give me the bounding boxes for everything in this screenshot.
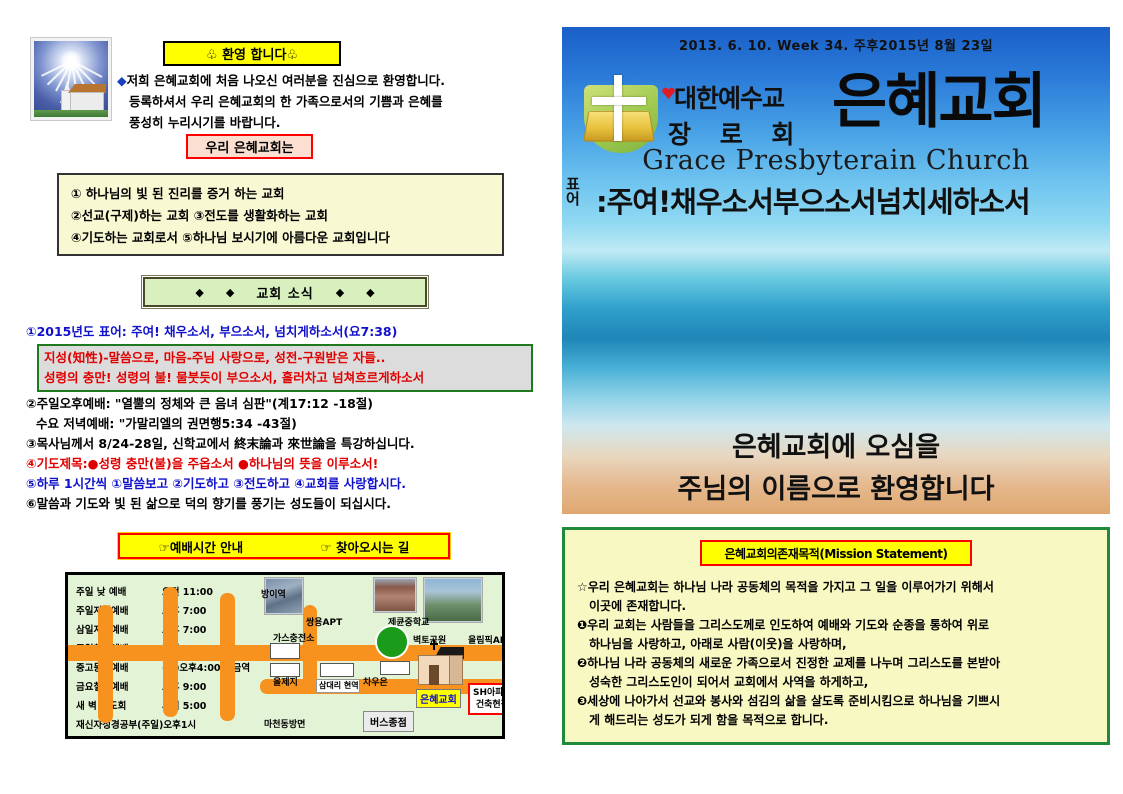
map-label-samdaeri: 삼대리 현역 bbox=[316, 679, 360, 693]
welcome-text-block: ◆저희 은혜교회에 처음 나오신 여러분을 진심으로 환영합니다. 등록하셔서 … bbox=[117, 70, 537, 133]
motto-box: 지성(知性)-말씀으로, 마음-주님 사랑으로, 성전-구원받은 자들.. 성령… bbox=[37, 344, 533, 392]
church-name-english: Grace Presbyterain Church bbox=[562, 145, 1110, 176]
park-circle-icon bbox=[375, 625, 409, 659]
hero-welcome-text: 은혜교회에 오심을 주님의 이름으로 환영합니다 bbox=[562, 427, 1110, 511]
motto-line-2: 성령의 충만! 성령의 불! 물붓듯이 부으소서, 흘러차고 넘쳐흐르게하소서 bbox=[44, 368, 526, 388]
denomination-line-1: 대한예수교 bbox=[674, 79, 784, 115]
point-1: ① 하나님의 빛 된 진리를 증거 하는 교회 bbox=[71, 183, 490, 205]
hero-welcome-line-2: 주님의 이름으로 환영합니다 bbox=[562, 469, 1110, 511]
diamond-icon-1: ◆ bbox=[195, 286, 203, 299]
map-photo-school bbox=[373, 577, 417, 613]
motto-label: 표 어 bbox=[566, 177, 580, 207]
diamond-icon-4: ◆ bbox=[366, 286, 374, 299]
welcome-line-1: ◆저희 은혜교회에 처음 나오신 여러분을 진심으로 환영합니다. bbox=[117, 70, 537, 91]
map-building-2 bbox=[270, 663, 300, 677]
church-marker-icon bbox=[418, 647, 464, 687]
road-vertical-2 bbox=[163, 587, 178, 717]
news-line-2: ②주일오후예배: "열뿔의 정체와 큰 음녀 심판"(계17:12 -18절) bbox=[26, 394, 546, 414]
map-building-4 bbox=[380, 661, 410, 675]
worship-times-label: ☞예배시간 안내 bbox=[159, 537, 244, 556]
map-box: 주일 낮 예배오전 11:00 주일저녁예배오후 7:00 삼일저녁예배오후 7… bbox=[65, 572, 505, 739]
diamond-icon-2: ◆ bbox=[226, 286, 234, 299]
right-column: 2013. 6. 10. Week 34. 주후2015년 8월 23일 대한예… bbox=[556, 0, 1123, 794]
news-body: ①2015년도 표어: 주여! 채우소서, 부으소서, 넘치게하소서(요7:38… bbox=[26, 322, 546, 514]
diamond-icon-3: ◆ bbox=[336, 286, 344, 299]
news-line-4: ④기도제목:●성령 충만(불)을 주옵소서 ●하나님의 뜻을 이루소서! bbox=[26, 454, 546, 474]
news-header: ◆ ◆ 교회 소식 ◆ ◆ bbox=[143, 277, 427, 307]
bulletin-date: 2013. 6. 10. Week 34. 주후2015년 8월 23일 bbox=[562, 35, 1110, 54]
map-building-1 bbox=[270, 643, 300, 659]
road-vertical-3 bbox=[220, 593, 235, 721]
welcome-line-3: 풍성히 누리시기를 바랍니다. bbox=[117, 112, 537, 133]
mission-line: ❷하나님 나라 공동체의 새로운 가족으로서 진정한 교제를 나누며 그리스도를… bbox=[577, 654, 1095, 673]
welcome-banner: ♧ 환영 합니다♧ bbox=[163, 41, 341, 66]
map-building-3 bbox=[320, 663, 354, 677]
bulletin-page: ♧ 환영 합니다♧ ◆저희 은혜교회에 처음 나오신 여러분을 진심으로 환영합… bbox=[0, 0, 1123, 794]
news-line-3: ③목사님께서 8/24-28일, 신학교에서 終末論과 來世論을 특강하십니다. bbox=[26, 434, 546, 454]
church-name-large: 은혜교회 bbox=[832, 65, 1045, 139]
motto-line-1: 지성(知性)-말씀으로, 마음-주님 사랑으로, 성전-구원받은 자들.. bbox=[44, 348, 526, 368]
mission-line: 성숙한 그리스도인이 되어서 교회에서 사역을 하게하고, bbox=[577, 673, 1095, 692]
road-vertical-1 bbox=[98, 605, 113, 723]
welcome-line-2: 등록하셔서 우리 은혜교회의 한 가족으로서의 기쁨과 은혜를 bbox=[117, 91, 537, 112]
directions-label: ☞ 찾아오시는 길 bbox=[320, 537, 409, 556]
news-line-2b: 수요 저녁예배: "가말리엘의 권면행5:34 -43절) bbox=[26, 414, 546, 434]
map-label-bangi-station: 방이역 bbox=[261, 587, 286, 600]
map-label-grace-church: 은혜교회 bbox=[416, 689, 461, 708]
hero-welcome-line-1: 은혜교회에 오심을 bbox=[562, 427, 1110, 469]
mission-statement-box: 은혜교회의존재목적(Mission Statement) ☆우리 은혜교회는 하… bbox=[562, 527, 1110, 745]
hero-banner: 2013. 6. 10. Week 34. 주후2015년 8월 23일 대한예… bbox=[562, 27, 1110, 514]
point-3: ④기도하는 교회로서 ⑤하나님 보시기에 아름다운 교회입니다 bbox=[71, 227, 490, 249]
map-label-olympic-apt: 올림픽APT bbox=[468, 633, 505, 646]
mission-line: ❸세상에 나아가서 선교와 봉사와 섬김의 삶을 살도록 준비시킴으로 하나님을… bbox=[577, 692, 1095, 711]
church-points-box: ① 하나님의 빛 된 진리를 증거 하는 교회 ②선교(구제)하는 교회 ③전도… bbox=[57, 173, 504, 256]
mission-line: 이곳에 존재합니다. bbox=[577, 597, 1095, 616]
left-column: ♧ 환영 합니다♧ ◆저희 은혜교회에 처음 나오신 여러분을 진심으로 환영합… bbox=[0, 0, 552, 794]
grass-strip bbox=[34, 110, 108, 117]
our-church-label: 우리 은혜교회는 bbox=[186, 134, 313, 159]
news-line-6: ⑥말씀과 기도와 빛 된 삶으로 덕의 향기를 풍기는 성도들이 되십시다. bbox=[26, 494, 546, 514]
news-line-1: ①2015년도 표어: 주여! 채우소서, 부으소서, 넘치게하소서(요7:38… bbox=[26, 322, 546, 342]
nave-body bbox=[70, 92, 104, 112]
mission-line: ☆우리 은혜교회는 하나님 나라 공동체의 목적을 가지고 그 일을 이루어가기… bbox=[577, 578, 1095, 597]
map-label-sh-apt: SH아파트 건축현장 bbox=[468, 683, 505, 715]
map-photo-olympic-apt bbox=[423, 577, 483, 623]
news-header-title: 교회 소식 bbox=[256, 283, 313, 302]
map-label-ssangyong-apt: 쌍용APT bbox=[306, 615, 342, 628]
map-label-bus-terminus: 버스종점 bbox=[363, 711, 414, 732]
church-photo-inner bbox=[34, 41, 108, 117]
mission-line: 게 해드리는 성도가 되게 함을 목적으로 합니다. bbox=[577, 711, 1095, 730]
mission-line: ❶우리 교회는 사람들을 그리스도께로 인도하여 예배와 기도와 순종을 통하여… bbox=[577, 616, 1095, 635]
diamond-bullet-icon: ◆ bbox=[117, 73, 127, 88]
mission-line: 하나님을 사랑하고, 아래로 사람(이웃)을 사랑하며, bbox=[577, 635, 1095, 654]
church-photo bbox=[30, 37, 112, 121]
mission-statement-title: 은혜교회의존재목적(Mission Statement) bbox=[700, 540, 972, 566]
news-line-5: ⑤하루 1시간씩 ①말씀보고 ②기도하고 ③전도하고 ④교회를 사랑합시다. bbox=[26, 474, 546, 494]
point-2: ②선교(구제)하는 교회 ③전도를 생활화하는 교회 bbox=[71, 205, 490, 227]
map-label-macheon: 마천동방면 bbox=[264, 717, 305, 730]
map-header: ☞예배시간 안내 ☞ 찾아오시는 길 bbox=[118, 533, 450, 559]
map-label-chauun: 차우은 bbox=[363, 675, 388, 688]
light-burst-icon bbox=[61, 51, 81, 71]
hero-motto-text: :주여!채우소서부으소서넘치세하소서 bbox=[596, 179, 1030, 221]
